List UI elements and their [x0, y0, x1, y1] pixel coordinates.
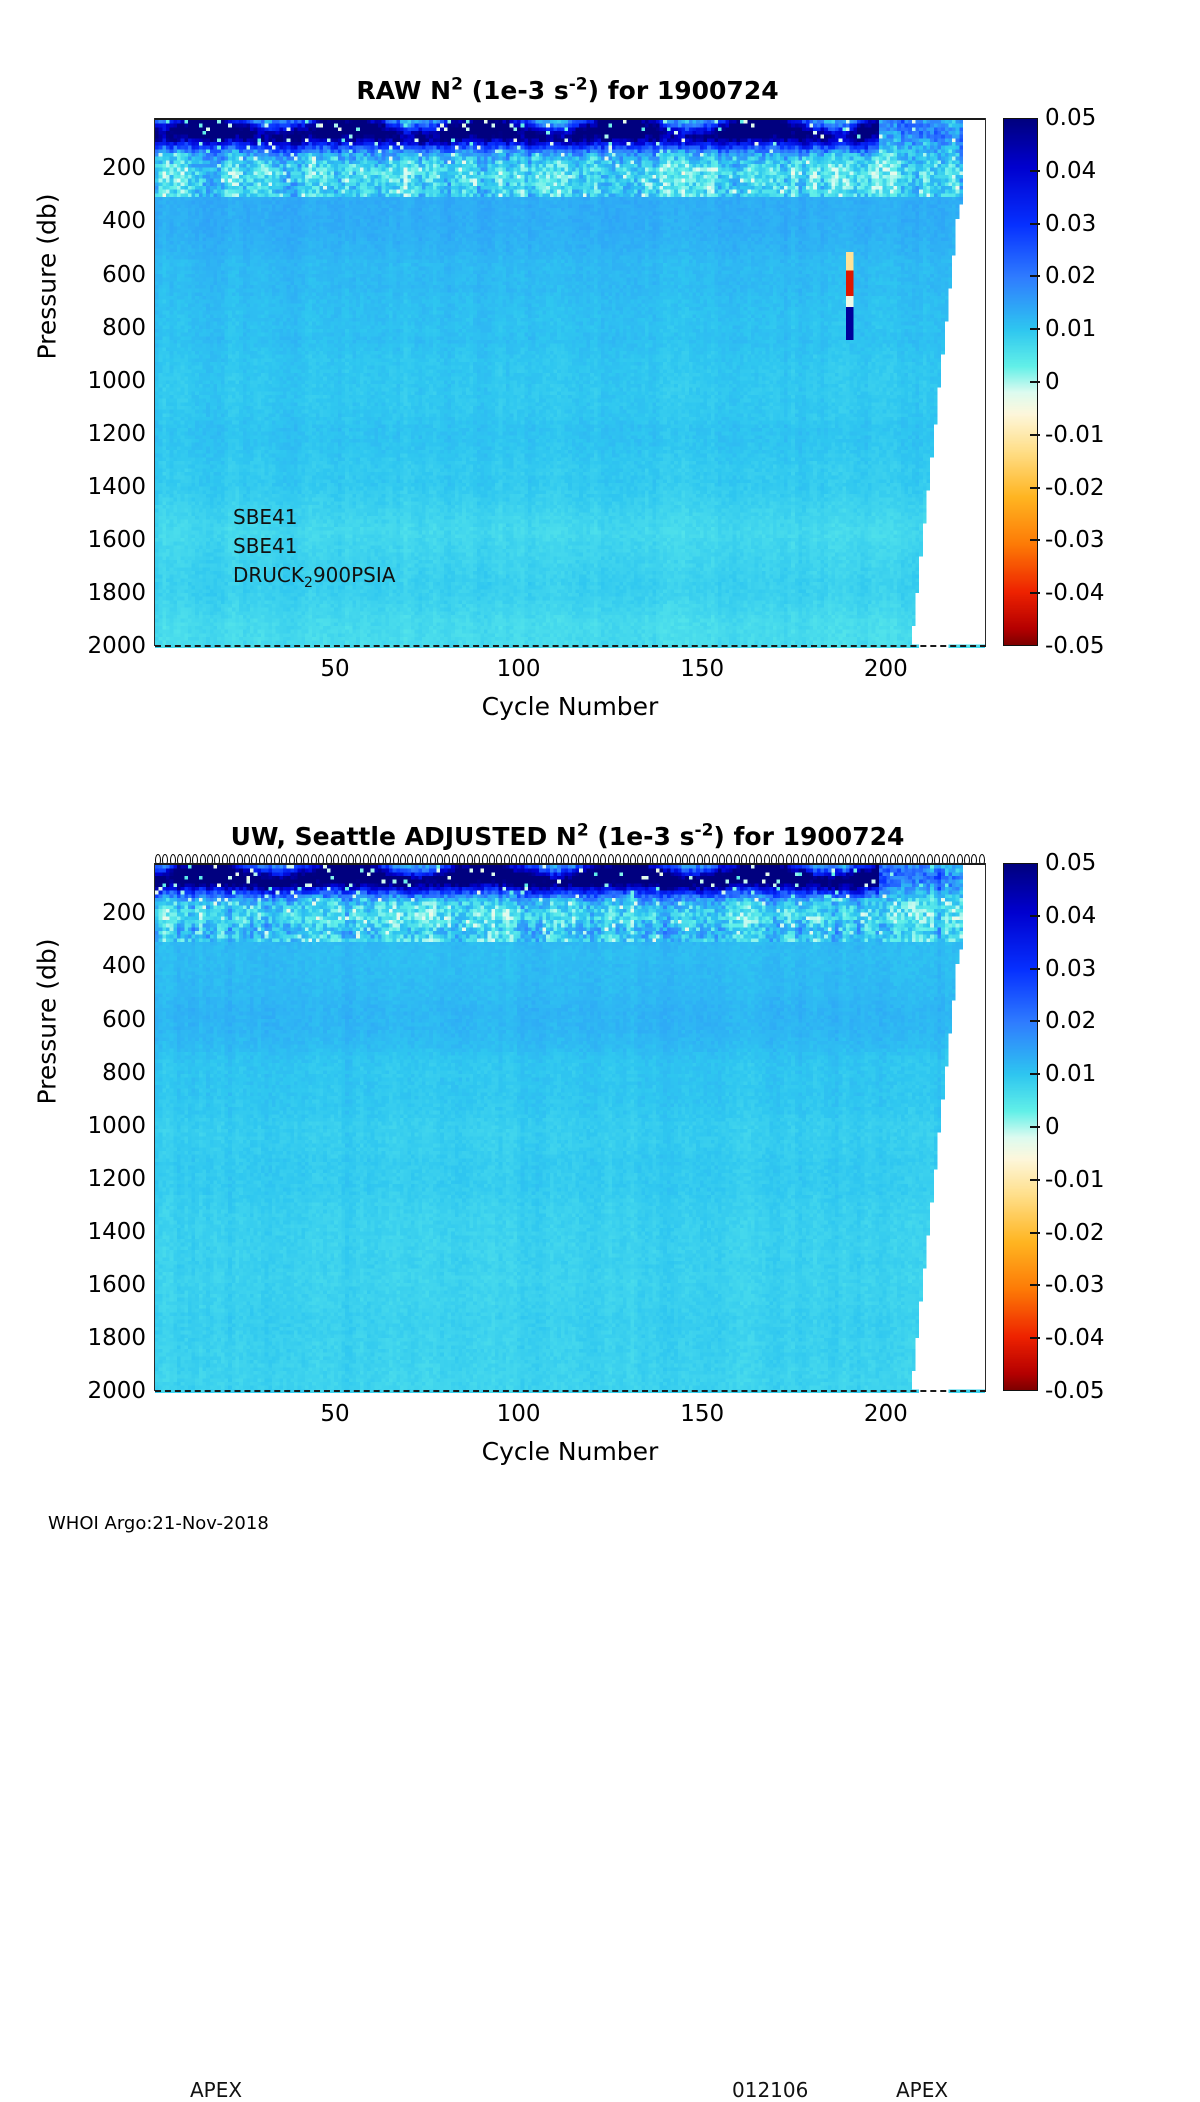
- colorbar-tick-label: 0: [1045, 369, 1060, 395]
- title-mid: (1e-3 s: [463, 76, 569, 105]
- adjusted-heatmap-canvas: [155, 865, 985, 1393]
- adjusted-colorbar: [1003, 863, 1038, 1391]
- raw-x-axis-label: Cycle Number: [155, 692, 985, 721]
- y-tick-label-1400: 1400: [0, 1219, 146, 1245]
- adjusted-axis-right-spine: [985, 863, 986, 1391]
- adjusted-annotation-platform-left: APEX: [190, 2078, 242, 2102]
- raw-heatmap-canvas: [155, 120, 985, 648]
- adjusted-y-tick-labels: 200400600800100012001400160018002000: [0, 745, 146, 1505]
- colorbar-tick-label: 0.03: [1045, 211, 1096, 237]
- adjusted-colorbar-gradient: [1004, 864, 1037, 1390]
- y-tick-label-1600: 1600: [0, 527, 146, 553]
- x-tick-label-200: 200: [864, 656, 908, 682]
- y-tick-label-1800: 1800: [0, 1325, 146, 1351]
- colorbar-tick-label: -0.01: [1045, 422, 1105, 448]
- y-tick-label-400: 400: [0, 953, 146, 979]
- adjusted-annotation-wmo-serial: 012106: [732, 2078, 808, 2102]
- y-tick-label-800: 800: [0, 315, 146, 341]
- colorbar-tick-label: 0.01: [1045, 1061, 1096, 1087]
- y-tick-label-2000: 2000: [0, 1378, 146, 1404]
- raw-y-tick-labels: 200400600800100012001400160018002000: [0, 0, 146, 760]
- title-prefix: UW, Seattle ADJUSTED N: [231, 822, 577, 851]
- colorbar-tick-label: 0.05: [1045, 850, 1096, 876]
- y-tick-label-1200: 1200: [0, 421, 146, 447]
- colorbar-tick-label: 0.02: [1045, 1008, 1096, 1034]
- x-tick-label-150: 150: [680, 1401, 724, 1427]
- adjusted-axis-left-spine: [154, 863, 155, 1391]
- y-tick-label-200: 200: [0, 155, 146, 181]
- colorbar-tick-label: -0.03: [1045, 527, 1105, 553]
- panel-adjusted: UW, Seattle ADJUSTED N2 (1e-3 s-2) for 1…: [0, 745, 1200, 1505]
- y-tick-label-1400: 1400: [0, 474, 146, 500]
- y-tick-label-1600: 1600: [0, 1272, 146, 1298]
- colorbar-tick-label: 0.04: [1045, 903, 1096, 929]
- y-tick-label-200: 200: [0, 900, 146, 926]
- y-tick-label-1000: 1000: [0, 1113, 146, 1139]
- colorbar-tick-label: -0.03: [1045, 1272, 1105, 1298]
- title-mid: (1e-3 s: [589, 822, 695, 851]
- raw-colorbar-gradient: [1004, 119, 1037, 645]
- colorbar-tick-label: 0: [1045, 1114, 1060, 1140]
- title-suffix: ) for 1900724: [713, 822, 904, 851]
- raw-heatmap-axes: [155, 118, 985, 648]
- colorbar-tick-label: -0.01: [1045, 1167, 1105, 1193]
- title-superscript-2: 2: [577, 821, 589, 841]
- x-tick-label-50: 50: [320, 656, 349, 682]
- title-superscript-2: 2: [451, 75, 463, 95]
- x-tick-label-50: 50: [320, 1401, 349, 1427]
- panel-raw: RAW N2 (1e-3 s-2) for 1900724 2004006008…: [0, 0, 1200, 760]
- adjusted-y-axis-label: Pressure (db): [33, 812, 62, 1232]
- y-tick-label-600: 600: [0, 262, 146, 288]
- y-tick-label-400: 400: [0, 208, 146, 234]
- colorbar-tick-label: -0.04: [1045, 1325, 1105, 1351]
- title-suffix: ) for 1900724: [588, 76, 779, 105]
- title-prefix: RAW N: [356, 76, 451, 105]
- y-tick-label-2000: 2000: [0, 633, 146, 659]
- colorbar-tick-label: -0.04: [1045, 580, 1105, 606]
- raw-y-axis-label: Pressure (db): [33, 67, 62, 487]
- raw-axis-right-spine: [985, 118, 986, 646]
- adjusted-annotation-platform-right: APEX: [896, 2078, 948, 2102]
- adjusted-heatmap-axes: [155, 863, 985, 1393]
- raw-axis-bottom-spine: [155, 645, 986, 647]
- adjusted-axis-bottom-spine: [155, 1390, 986, 1392]
- y-tick-label-1200: 1200: [0, 1166, 146, 1192]
- colorbar-tick-label: 0.03: [1045, 956, 1096, 982]
- y-tick-label-1800: 1800: [0, 580, 146, 606]
- x-tick-label-150: 150: [680, 656, 724, 682]
- x-tick-label-100: 100: [497, 1401, 541, 1427]
- colorbar-tick-label: 0.04: [1045, 158, 1096, 184]
- colorbar-tick-label: -0.05: [1045, 633, 1105, 659]
- raw-colorbar: [1003, 118, 1038, 646]
- x-tick-label-200: 200: [864, 1401, 908, 1427]
- y-tick-label-600: 600: [0, 1007, 146, 1033]
- raw-axis-left-spine: [154, 118, 155, 646]
- figure-footer: WHOI Argo:21-Nov-2018: [48, 1513, 269, 1534]
- colorbar-tick-label: -0.02: [1045, 475, 1105, 501]
- panel-adjusted-title: UW, Seattle ADJUSTED N2 (1e-3 s-2) for 1…: [0, 822, 1135, 851]
- adjusted-x-axis-label: Cycle Number: [155, 1437, 985, 1466]
- title-superscript-minus2: -2: [569, 75, 588, 95]
- y-tick-label-1000: 1000: [0, 368, 146, 394]
- panel-raw-title: RAW N2 (1e-3 s-2) for 1900724: [0, 76, 1135, 105]
- colorbar-tick-label: 0.02: [1045, 263, 1096, 289]
- x-tick-label-100: 100: [497, 656, 541, 682]
- colorbar-tick-label: 0.01: [1045, 316, 1096, 342]
- colorbar-tick-label: -0.02: [1045, 1220, 1105, 1246]
- colorbar-tick-label: 0.05: [1045, 105, 1096, 131]
- y-tick-label-800: 800: [0, 1060, 146, 1086]
- colorbar-tick-label: -0.05: [1045, 1378, 1105, 1404]
- title-superscript-minus2: -2: [695, 821, 714, 841]
